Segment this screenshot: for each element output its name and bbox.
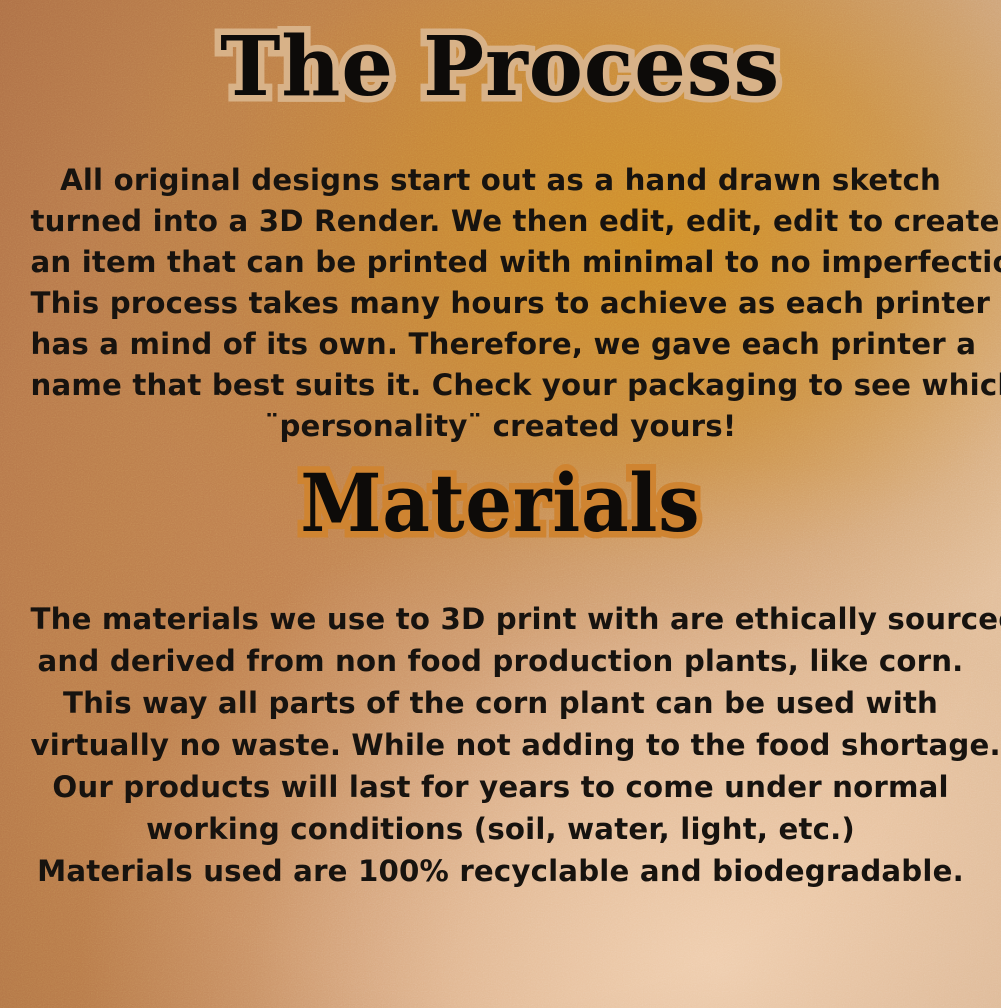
poster-canvas: The Process All original designs start o… xyxy=(0,0,1001,1008)
materials-line-6: working conditions (soil, water, light, … xyxy=(31,808,971,850)
materials-heading: Materials xyxy=(300,463,700,543)
process-line-7: ¨personality¨ created yours! xyxy=(31,406,971,447)
materials-line-4: virtually no waste. While not adding to … xyxy=(31,724,971,766)
process-heading-container: The Process xyxy=(0,26,1001,108)
materials-line-2: and derived from non food production pla… xyxy=(31,640,971,682)
process-line-3: an item that can be printed with minimal… xyxy=(31,242,971,283)
materials-line-5: Our products will last for years to come… xyxy=(31,766,971,808)
materials-line-1: The materials we use to 3D print with ar… xyxy=(31,598,971,640)
process-line-6: name that best suits it. Check your pack… xyxy=(31,365,971,406)
materials-line-7: Materials used are 100% recyclable and b… xyxy=(31,850,971,892)
process-line-4: This process takes many hours to achieve… xyxy=(31,283,971,324)
poster-content: The Process All original designs start o… xyxy=(0,0,1001,1008)
process-line-5: has a mind of its own. Therefore, we gav… xyxy=(31,324,971,365)
process-heading: The Process xyxy=(220,26,780,108)
process-line-2: turned into a 3D Render. We then edit, e… xyxy=(31,201,971,242)
materials-heading-container: Materials xyxy=(0,463,1001,543)
process-line-1: All original designs start out as a hand… xyxy=(31,160,971,201)
materials-line-3: This way all parts of the corn plant can… xyxy=(31,682,971,724)
materials-body-text: The materials we use to 3D print with ar… xyxy=(0,598,1001,892)
process-body-text: All original designs start out as a hand… xyxy=(0,160,1001,447)
